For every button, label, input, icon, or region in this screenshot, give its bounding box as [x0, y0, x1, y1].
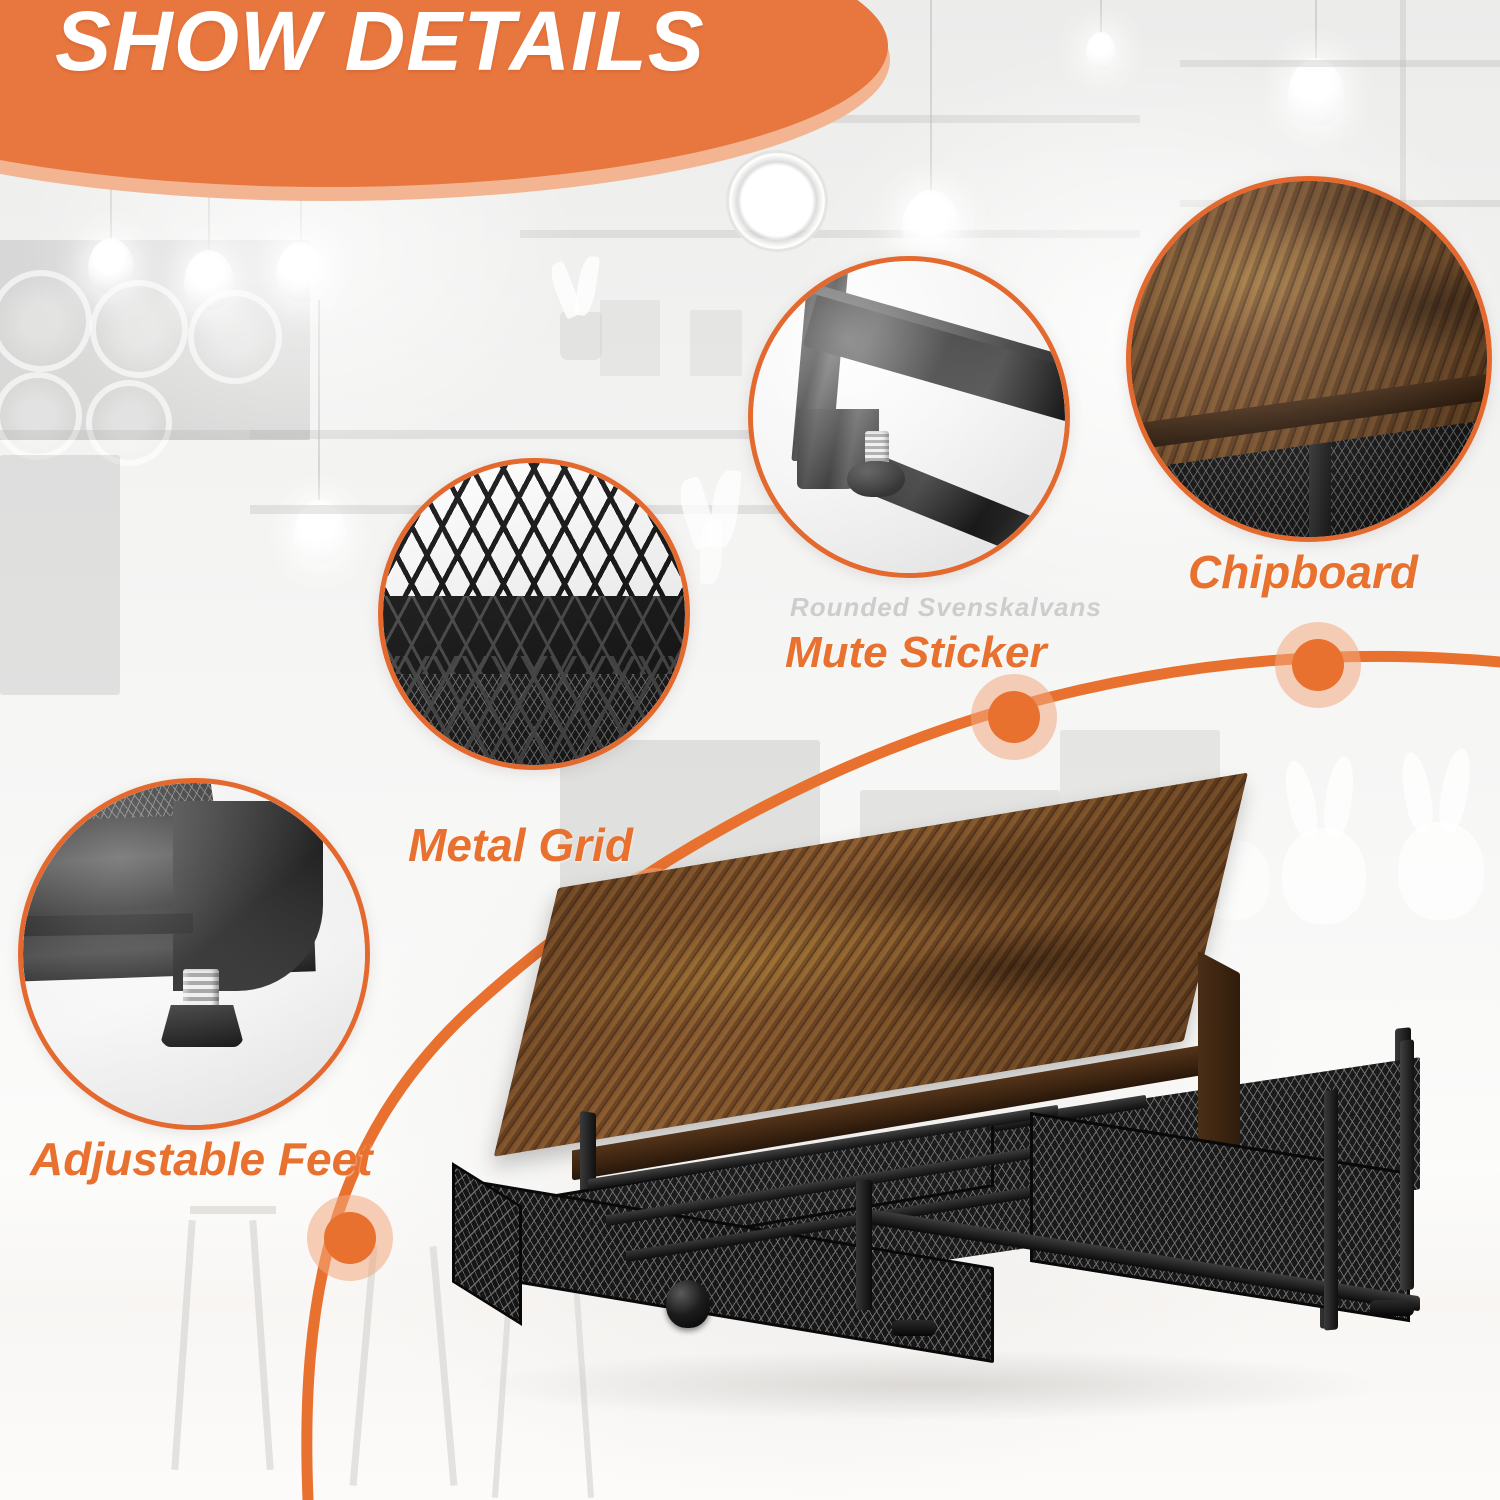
callout-label-metal-grid: Metal Grid [408, 818, 633, 872]
frame-upright-right-front [1324, 1089, 1338, 1330]
callout-circle-mute-sticker [748, 256, 1070, 578]
wood-side-edge [1198, 951, 1240, 1163]
wood-board-icon [1131, 181, 1487, 537]
leg-screw-foot-icon [23, 783, 365, 1125]
mesh-texture-icon [383, 463, 685, 765]
mesh-shade [383, 463, 685, 765]
callout-circle-metal-grid [378, 458, 690, 770]
infographic-canvas: Rounded Svenskalvans SHOW DETAILS [0, 0, 1500, 1500]
callout-circle-chipboard [1126, 176, 1492, 542]
callout-gloss [753, 261, 1065, 573]
header-banner: SHOW DETAILS [0, 0, 890, 195]
callout-label-adjustable-feet: Adjustable Feet [30, 1132, 373, 1186]
product-foot [892, 1320, 936, 1336]
page-title: SHOW DETAILS [55, 0, 705, 90]
frame-post-center [856, 1180, 872, 1310]
frame-corner-screw-icon [753, 261, 1065, 573]
product-foot [1370, 1300, 1414, 1316]
callout-gloss [23, 783, 365, 1125]
product-shadow [480, 1350, 1380, 1420]
callout-circle-adjustable-feet [18, 778, 370, 1130]
callout-label-chipboard: Chipboard [1188, 545, 1418, 599]
callout-label-mute-sticker: Mute Sticker [785, 628, 1047, 678]
callout-gloss [1131, 181, 1487, 537]
frame-upright-right [1400, 1039, 1414, 1290]
drawer-knob[interactable] [666, 1280, 710, 1328]
product-monitor-stand [440, 880, 1500, 1440]
